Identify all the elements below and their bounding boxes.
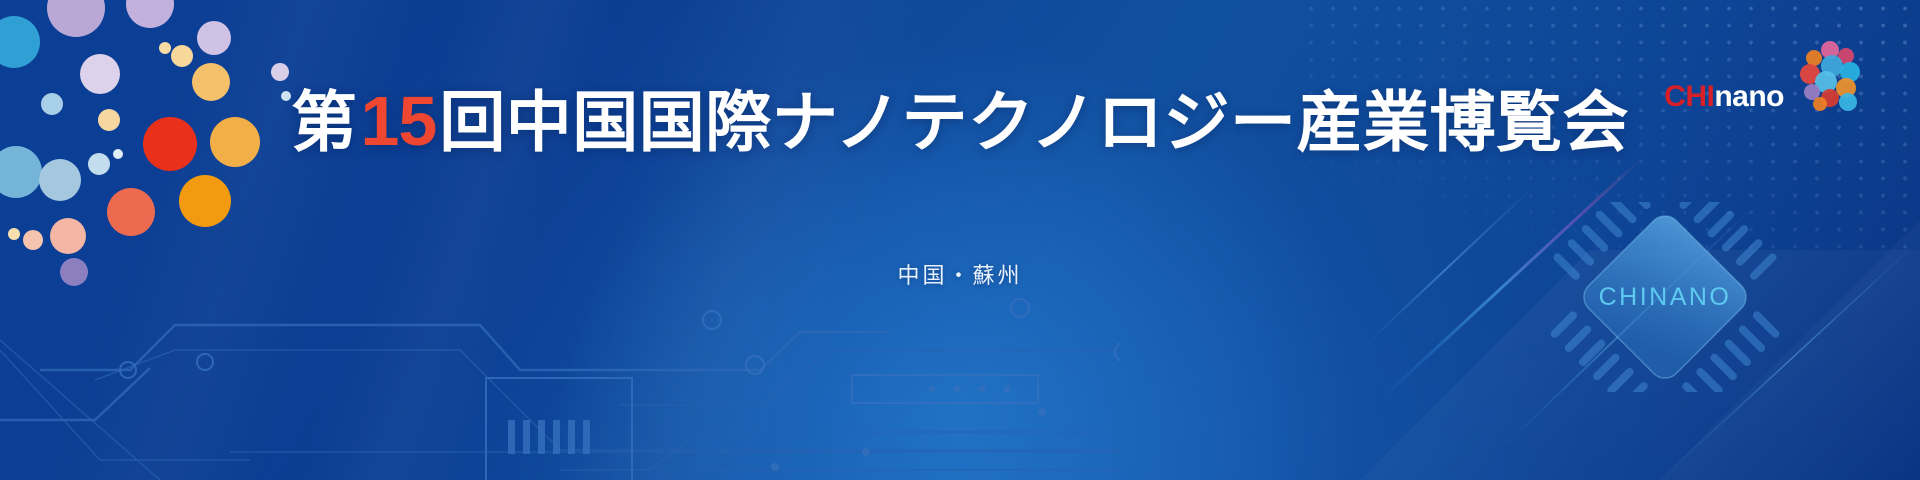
chinano-chip-badge: CHINANO	[1515, 202, 1815, 392]
molecule-cluster-icon	[1790, 36, 1868, 114]
bubble-16	[88, 153, 110, 175]
bubble-6	[171, 45, 193, 67]
event-banner: CHINANO	[0, 0, 1920, 480]
light-streak-decoration	[1360, 150, 1920, 480]
bubble-18	[107, 188, 155, 236]
chinano-logo[interactable]: CHInano	[1622, 36, 1872, 124]
bubble-2	[126, 0, 174, 28]
bubble-19	[179, 175, 231, 227]
bubble-8	[271, 63, 289, 81]
chinano-wordmark: CHInano	[1664, 82, 1784, 112]
bubble-21	[23, 230, 43, 250]
event-location-subtitle: 中国・蘇州	[0, 258, 1920, 290]
sheen-band-2	[266, 0, 644, 480]
logo-blob-11	[1813, 97, 1827, 111]
wordmark-chi: CHI	[1664, 80, 1714, 113]
headline-prefix: 第	[291, 84, 358, 161]
sheen-band-1	[8, 0, 443, 480]
bubble-1	[47, 0, 105, 37]
sheen-band-3	[489, 0, 971, 480]
bubble-0	[0, 16, 40, 68]
logo-blob-10	[1839, 93, 1857, 111]
bubble-20	[8, 228, 20, 240]
wordmark-nano: nano	[1714, 80, 1784, 113]
headline-edition-number: 15	[357, 82, 439, 160]
bubble-5	[159, 42, 171, 54]
logo-blob-2	[1806, 50, 1822, 66]
bubble-15	[39, 159, 81, 201]
headline-suffix: 回中国国際ナノテクノロジー産業博覧会	[439, 84, 1629, 161]
bubble-3	[197, 21, 231, 55]
bubble-22	[50, 218, 86, 254]
